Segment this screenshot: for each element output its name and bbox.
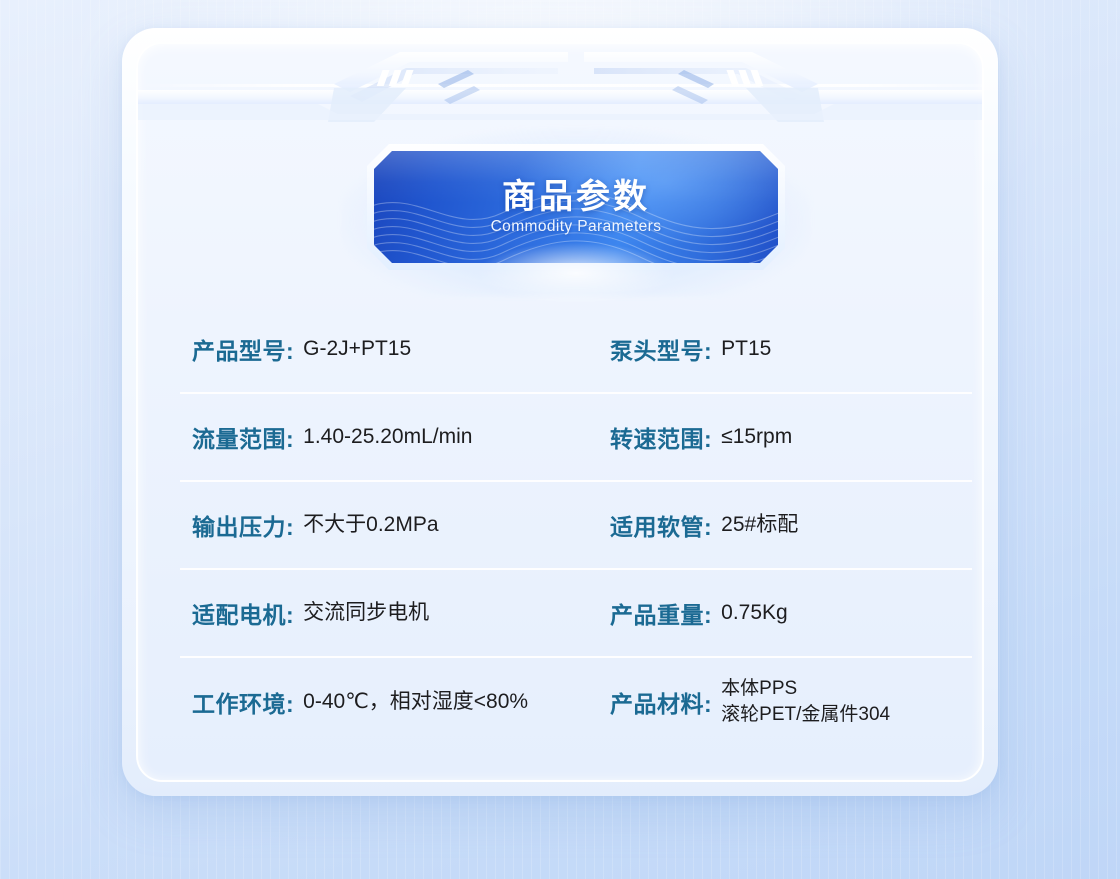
spec-cell-output-pressure: 输出压力: 不大于0.2MPa [180, 482, 598, 568]
spec-label: 产品重量: [610, 596, 712, 630]
spec-cell-product-model: 产品型号: G-2J+PT15 [180, 306, 598, 392]
spec-label: 转速范围: [610, 420, 712, 454]
spec-value: 交流同步电机 [303, 599, 429, 627]
spec-cell-product-material: 产品材料: 本体PPS 滚轮PET/金属件304 [598, 658, 972, 746]
spec-table: 产品型号: G-2J+PT15 泵头型号: PT15 流量范围: 1.40-25… [180, 306, 972, 746]
banner-bottom-glow [476, 242, 676, 304]
spec-value: 0.75Kg [721, 599, 788, 627]
table-row: 输出压力: 不大于0.2MPa 适用软管: 25#标配 [180, 482, 972, 570]
title-banner: 商品参数 Commodity Parameters [367, 144, 785, 270]
spec-label: 泵头型号: [610, 332, 712, 366]
table-row: 产品型号: G-2J+PT15 泵头型号: PT15 [180, 306, 972, 394]
spec-label: 适用软管: [610, 508, 712, 542]
spec-label: 产品材料: [610, 685, 712, 719]
spec-value: PT15 [721, 335, 771, 363]
spec-cell-working-environment: 工作环境: 0-40℃，相对湿度<80% [180, 658, 598, 746]
spec-cell-product-weight: 产品重量: 0.75Kg [598, 570, 972, 656]
spec-value: 25#标配 [721, 511, 798, 539]
table-row: 流量范围: 1.40-25.20mL/min 转速范围: ≤15rpm [180, 394, 972, 482]
spec-label: 工作环境: [192, 685, 294, 719]
spec-label: 输出压力: [192, 508, 294, 542]
spec-cell-applicable-hose: 适用软管: 25#标配 [598, 482, 972, 568]
banner-zone: 商品参数 Commodity Parameters [138, 144, 984, 270]
banner-title-english: Commodity Parameters [491, 218, 662, 236]
spec-value: ≤15rpm [721, 423, 792, 451]
spec-cell-motor: 适配电机: 交流同步电机 [180, 570, 598, 656]
banner-title-chinese: 商品参数 [502, 178, 650, 217]
spec-value: 1.40-25.20mL/min [303, 423, 472, 451]
spec-value: G-2J+PT15 [303, 335, 411, 363]
spec-cell-pump-head-model: 泵头型号: PT15 [598, 306, 972, 392]
spec-value: 0-40℃，相对湿度<80% [303, 688, 528, 716]
spec-value: 本体PPS 滚轮PET/金属件304 [721, 676, 890, 728]
spec-label: 流量范围: [192, 420, 294, 454]
spec-cell-flow-range: 流量范围: 1.40-25.20mL/min [180, 394, 598, 480]
spec-cell-speed-range: 转速范围: ≤15rpm [598, 394, 972, 480]
table-row: 适配电机: 交流同步电机 产品重量: 0.75Kg [180, 570, 972, 658]
table-row: 工作环境: 0-40℃，相对湿度<80% 产品材料: 本体PPS 滚轮PET/金… [180, 658, 972, 746]
spec-value: 不大于0.2MPa [303, 511, 438, 539]
spec-label: 产品型号: [192, 332, 294, 366]
parameters-card: 商品参数 Commodity Parameters 产品型号: G-2J+PT1… [122, 28, 998, 796]
spec-label: 适配电机: [192, 596, 294, 630]
card-inner-panel: 商品参数 Commodity Parameters 产品型号: G-2J+PT1… [136, 42, 984, 782]
